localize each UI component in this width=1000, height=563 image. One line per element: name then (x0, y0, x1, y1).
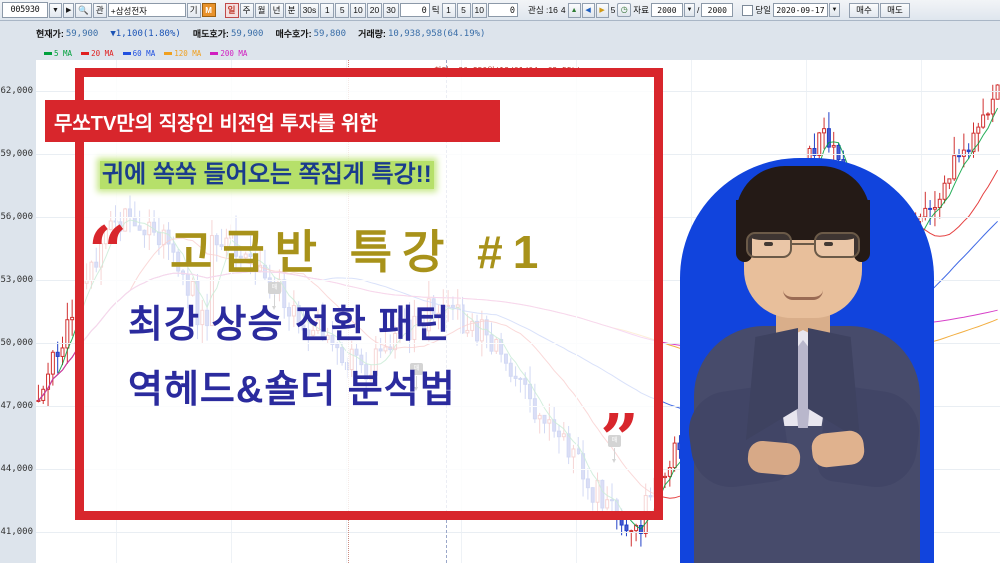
ma-legend-item-1: 20 MA (81, 49, 114, 58)
glasses-lens-right (814, 232, 860, 258)
ma-legend-item-2: 60 MA (123, 49, 156, 58)
tick-20-button[interactable]: 20 (367, 3, 382, 18)
symbol-section: 005930 ▼ ▶ 🔍 관 +삼성전자 기 M (2, 2, 216, 18)
ma-color-swatch-icon (44, 52, 52, 55)
y-axis-tick: 41,000 (0, 527, 33, 537)
clock-icon[interactable]: ◷ (617, 3, 631, 17)
sell-button[interactable]: 매도 (880, 3, 910, 18)
promo-line-3: 최강 상승 전환 패턴 (128, 300, 628, 350)
ask-label: 매도호가: (193, 27, 229, 40)
watchlist-label: 관심 :16 (527, 4, 559, 16)
quote-open-icon: “ (88, 222, 127, 283)
period-day-button[interactable]: 일 (225, 3, 239, 18)
bid-label: 매수호가: (275, 27, 311, 40)
presenter-photo (672, 140, 942, 563)
ma-legend-item-0: 5 MA (44, 49, 72, 58)
magnifier-icon[interactable]: 🔍 (75, 3, 92, 18)
ma-legend-item-3: 120 MA (164, 49, 201, 58)
period-week-button[interactable]: 주 (240, 3, 254, 18)
tick-30-button[interactable]: 30 (383, 3, 398, 18)
ma-color-swatch-icon (210, 52, 218, 55)
ma-legend-label: 120 MA (174, 49, 201, 58)
info-ask: 매도호가: 59,900 (193, 27, 264, 40)
symbol-name-input[interactable]: +삼성전자 (108, 3, 186, 17)
watchlist-count: 4 (560, 5, 567, 15)
moving-average-legend: 5 MA20 MA60 MA120 MA200 MA (44, 47, 247, 59)
tick-extra-1-button[interactable]: 1 (442, 3, 456, 18)
data-total-input[interactable]: 2000 (701, 3, 733, 17)
y-axis-tick: 53,000 (0, 275, 33, 285)
presenter-hair (736, 166, 870, 240)
price-change-value: ▼1,100(1.80%) (110, 29, 180, 39)
main-toolbar: 005930 ▼ ▶ 🔍 관 +삼성전자 기 M 일 주 월 년 분 30s 1… (0, 0, 1000, 21)
presenter-hand-right (747, 440, 802, 476)
quote-info-bar: 현재가: 59,900 ▼1,100(1.80%) 매도호가: 59,900 매… (36, 26, 485, 41)
trade-section: 매수 매도 (849, 3, 910, 18)
tick-unit-label: 틱 (431, 4, 441, 16)
ma-color-swatch-icon (164, 52, 172, 55)
glasses-lens-left (746, 232, 792, 258)
date-section: 당일 2020-09-17 ▼ (742, 3, 840, 17)
current-price-label: 현재가: (36, 27, 64, 40)
info-volume: 거래량: 10,938,958(64.19%) (358, 27, 485, 40)
promo-subtitle-text: 귀에 쏙쏙 들어오는 쪽집게 특강!! (100, 161, 434, 188)
promo-banner: 무쏘TV만의 직장인 비전업 투자를 위한 (45, 100, 500, 142)
presenter-mouth (783, 290, 823, 300)
tick-30s-button[interactable]: 30s (300, 3, 320, 18)
y-axis-tick: 47,000 (0, 401, 33, 411)
tick-extra-5-button[interactable]: 5 (457, 3, 471, 18)
period-minute-button[interactable]: 분 (285, 3, 299, 18)
ma-color-swatch-icon (123, 52, 131, 55)
buy-button[interactable]: 매수 (849, 3, 879, 18)
ma-color-swatch-icon (81, 52, 89, 55)
triangle-left-icon[interactable]: ◀ (582, 3, 595, 18)
period-month-button[interactable]: 월 (255, 3, 269, 18)
data-label: 자료 (632, 4, 650, 16)
triangle-right-icon[interactable]: ▶ (596, 3, 609, 18)
trading-chart-window: 005930 ▼ ▶ 🔍 관 +삼성전자 기 M 일 주 월 년 분 30s 1… (0, 0, 1000, 563)
info-current-price: 현재가: 59,900 (36, 27, 98, 40)
ma-legend-label: 5 MA (54, 49, 72, 58)
today-checkbox[interactable] (742, 5, 753, 16)
y-axis-tick: 50,000 (0, 338, 33, 348)
volume-value: 10,938,958(64.19%) (388, 29, 486, 39)
promo-title: 고급반 특강 #1 (170, 222, 630, 282)
today-label: 당일 (754, 4, 772, 16)
chevron-down-icon[interactable]: ▼ (829, 3, 840, 17)
y-axis-tick: 56,000 (0, 212, 33, 222)
slash-separator: / (696, 5, 700, 15)
quote-close-icon: ” (600, 410, 639, 471)
info-bid: 매수호가: 59,800 (275, 27, 346, 40)
tick-value-input[interactable]: 0 (400, 3, 430, 17)
presenter-hand-left (810, 429, 865, 468)
tick-5-button[interactable]: 5 (335, 3, 349, 18)
ask-value: 59,900 (231, 29, 264, 39)
chevron-down-icon[interactable]: ▼ (684, 3, 695, 17)
glasses-bridge (792, 243, 814, 245)
watchlist-button[interactable]: 관 (93, 3, 107, 18)
play-icon[interactable]: ▶ (63, 3, 74, 18)
tick-extra-value-input[interactable]: 0 (488, 3, 518, 17)
gi-button[interactable]: 기 (187, 3, 201, 18)
bid-value: 59,800 (314, 29, 347, 39)
symbol-code-input[interactable]: 005930 (2, 2, 48, 18)
m-button[interactable]: M (202, 3, 216, 17)
ma-legend-item-4: 200 MA (210, 49, 247, 58)
chevron-down-icon[interactable]: ▼ (49, 3, 62, 18)
tick-extra-10-button[interactable]: 10 (472, 3, 487, 18)
promo-subtitle: 귀에 쏙쏙 들어오는 쪽집게 특강!! (100, 157, 570, 193)
y-axis-tick: 44,000 (0, 464, 33, 474)
watchlist-nav-section: 관심 :16 4 ▲ ◀ ▶ 5 ◷ 자료 2000 ▼ / 2000 (527, 3, 733, 18)
ma-legend-label: 20 MA (91, 49, 114, 58)
tick-10-button[interactable]: 10 (350, 3, 365, 18)
info-change: ▼1,100(1.80%) (110, 29, 180, 39)
data-count-input[interactable]: 2000 (651, 3, 683, 17)
period-year-button[interactable]: 년 (270, 3, 284, 18)
y-axis-tick: 59,000 (0, 149, 33, 159)
presenter-glasses (746, 232, 860, 258)
volume-label: 거래량: (358, 27, 386, 40)
y-axis-tick: 62,000 (0, 86, 33, 96)
date-input[interactable]: 2020-09-17 (773, 3, 828, 17)
tick-1-button[interactable]: 1 (320, 3, 334, 18)
spinner-icon[interactable]: ▲ (568, 3, 581, 18)
promo-line-4: 역헤드&숄더 분석법 (128, 364, 648, 416)
page-value: 5 (610, 5, 617, 15)
ma-legend-label: 200 MA (220, 49, 247, 58)
ma-legend-label: 60 MA (133, 49, 156, 58)
current-price-value: 59,900 (66, 29, 99, 39)
price-axis: 62,00059,00056,00053,00050,00047,00044,0… (0, 60, 36, 563)
period-section: 일 주 월 년 분 30s 1 5 10 20 30 0 틱 1 5 10 0 (225, 3, 518, 18)
